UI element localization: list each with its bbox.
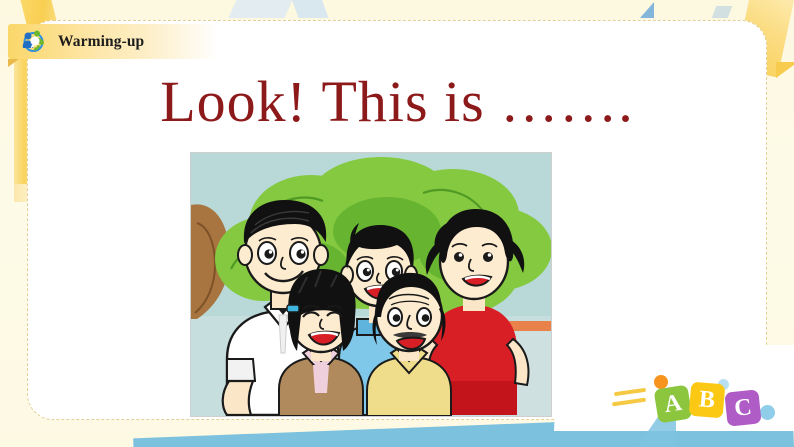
top-blue-accent-c [712,6,732,18]
abc-block-b: B [689,382,726,419]
abc-block-c-letter: C [733,394,753,423]
abc-block-a: A [654,385,693,424]
section-header-label: Warming-up [58,33,144,51]
top-blue-triangle-icon [640,2,654,18]
top-blue-accent-b [285,0,328,18]
top-blue-accent-a [228,0,299,18]
people-circle-logo-icon [20,29,46,55]
slide-root: Warming-up Look! This is ……. [0,0,794,447]
abc-block-b-letter: B [698,386,716,414]
abc-block-c: C [724,389,761,426]
cartoon-family-photo [190,152,552,417]
wave-line-top [614,388,646,396]
section-header-warming-up[interactable]: Warming-up [8,24,218,59]
page-title: Look! This is ……. [0,73,794,131]
abc-decoration-group: A B C [604,351,794,447]
light-blue-dot-large [760,405,775,420]
abc-block-a-letter: A [662,389,683,418]
wave-line-bottom [612,398,646,407]
